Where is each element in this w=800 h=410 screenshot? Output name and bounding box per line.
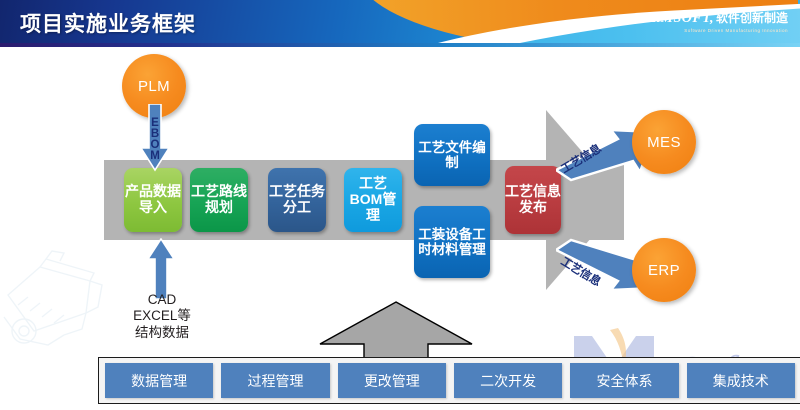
brand-logo-main: KMSOFT, (651, 11, 714, 26)
foundation-item-integration-technology[interactable]: 集成技术 (687, 363, 795, 398)
cad-input-up-arrow-icon (147, 238, 175, 300)
system-circle-erp[interactable]: ERP (632, 238, 696, 302)
foundation-item-label: 集成技术 (713, 371, 769, 391)
input-note-line3: 结构数据 (110, 325, 214, 341)
process-box-label: 工艺路线规划 (190, 184, 248, 215)
input-note-line2: EXCEL等 (110, 308, 214, 324)
process-box-label: 产品数据导入 (124, 184, 182, 215)
brand-logo: KMSOFT,软件创新制造 Software Driven Manufactur… (651, 10, 788, 34)
system-circle-label: ERP (648, 262, 680, 279)
process-box-label: 工艺BOM管理 (344, 176, 402, 223)
foundation-item-label: 过程管理 (247, 371, 303, 391)
process-box-label: 工装设备工时材料管理 (414, 227, 490, 257)
engine-watermark-icon (0, 235, 114, 355)
slide-header: 项目实施业务框架 KMSOFT,软件创新制造 Software Driven M… (0, 0, 800, 47)
foundation-item-label: 更改管理 (364, 371, 420, 391)
system-circle-label: MES (647, 134, 681, 151)
foundation-item-change-management[interactable]: 更改管理 (338, 363, 446, 398)
foundation-item-label: 二次开发 (480, 371, 536, 391)
process-box-process-task-assignment[interactable]: 工艺任务分工 (268, 168, 326, 232)
process-box-product-data-import[interactable]: 产品数据导入 (124, 168, 182, 232)
header-underline (0, 43, 800, 47)
foundation-support-up-arrow-icon (318, 300, 474, 362)
input-note-line1: CAD (110, 292, 214, 308)
foundation-bar: 数据管理 过程管理 更改管理 二次开发 安全体系 集成技术 (98, 357, 800, 404)
process-box-label: 工艺任务分工 (268, 184, 326, 215)
foundation-item-label: 数据管理 (131, 371, 187, 391)
process-box-tooling-equipment-management[interactable]: 工装设备工时材料管理 (414, 206, 490, 278)
process-box-label: 工艺文件编制 (414, 140, 490, 170)
foundation-item-label: 安全体系 (596, 371, 652, 391)
process-box-process-bom-management[interactable]: 工艺BOM管理 (344, 168, 402, 232)
brand-logo-subtitle: Software Driven Manufacturing Innovation (651, 29, 788, 34)
process-box-process-info-publish[interactable]: 工艺信息发布 (505, 166, 561, 234)
foundation-item-secondary-development[interactable]: 二次开发 (454, 363, 562, 398)
slide-canvas: 项目实施业务框架 KMSOFT,软件创新制造 Software Driven M… (0, 0, 800, 410)
process-box-process-document-authoring[interactable]: 工艺文件编制 (414, 124, 490, 186)
system-circle-label: PLM (138, 78, 170, 95)
foundation-item-security-system[interactable]: 安全体系 (570, 363, 678, 398)
input-data-note: CAD EXCEL等 结构数据 (110, 292, 214, 341)
process-box-process-route-planning[interactable]: 工艺路线规划 (190, 168, 248, 232)
foundation-item-data-management[interactable]: 数据管理 (105, 363, 213, 398)
brand-logo-cn: 软件创新制造 (716, 11, 788, 25)
ebom-arrow-label: EBOM (141, 110, 169, 168)
foundation-item-process-management[interactable]: 过程管理 (221, 363, 329, 398)
system-circle-mes[interactable]: MES (632, 110, 696, 174)
process-box-label: 工艺信息发布 (505, 184, 561, 215)
page-title: 项目实施业务框架 (20, 8, 196, 38)
